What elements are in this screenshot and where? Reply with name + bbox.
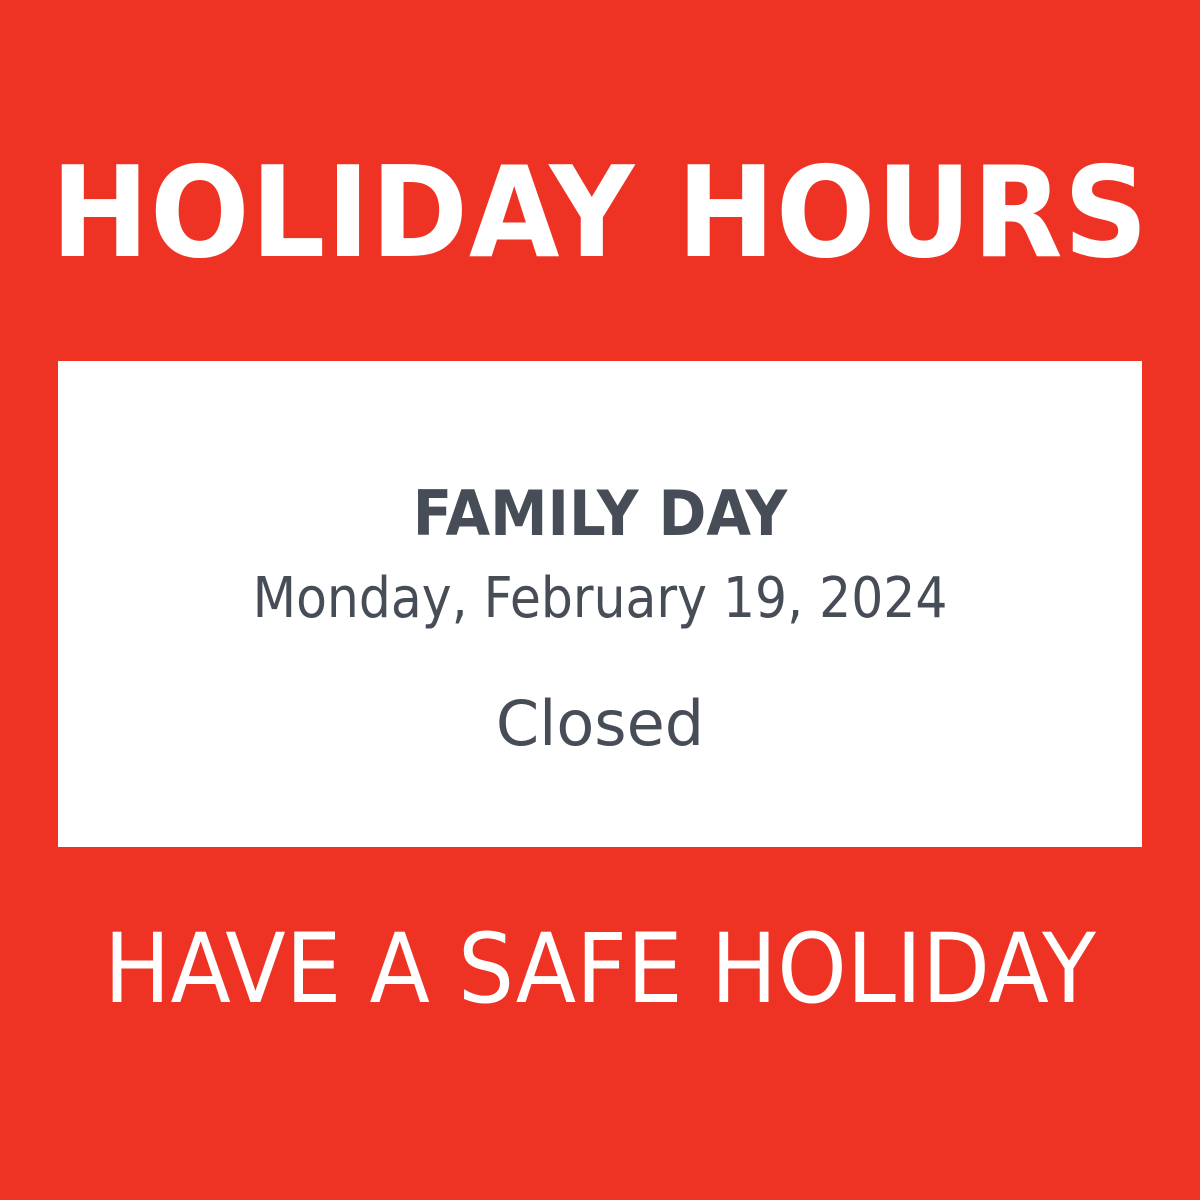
holiday-info-card-content: FAMILY DAY Monday, February 19, 2024 Clo… xyxy=(58,361,1142,755)
status-badge: Closed xyxy=(58,693,1142,755)
page-title: HOLIDAY HOURS xyxy=(42,150,1158,276)
holiday-info-card: FAMILY DAY Monday, February 19, 2024 Clo… xyxy=(58,361,1142,847)
holiday-date: Monday, February 19, 2024 xyxy=(112,571,1088,627)
holiday-hours-sign: HOLIDAY HOURS FAMILY DAY Monday, Februar… xyxy=(0,0,1200,1200)
footer-message: HAVE A SAFE HOLIDAY xyxy=(48,921,1152,1017)
holiday-name: FAMILY DAY xyxy=(96,483,1104,545)
